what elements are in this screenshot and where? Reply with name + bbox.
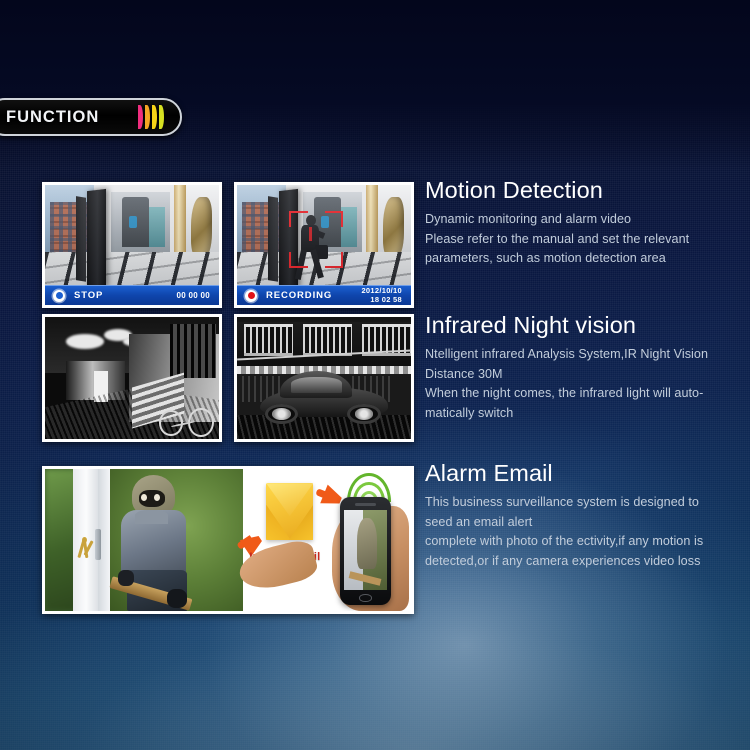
bicycle-shape bbox=[158, 395, 214, 436]
status-label: STOP bbox=[74, 290, 103, 301]
section-title: Alarm Email bbox=[425, 461, 743, 486]
section-line: When the night comes, the infrared light… bbox=[425, 384, 743, 404]
status-bar-idle: STOP 00 00 00 bbox=[45, 285, 219, 305]
night-street-scene bbox=[45, 317, 219, 439]
intruder-figure bbox=[116, 475, 203, 611]
envelope-icon bbox=[266, 483, 313, 540]
night-vision-street-frame[interactable] bbox=[42, 314, 222, 442]
section-infrared-night-vision: Infrared Night vision Ntelligent infrare… bbox=[425, 313, 743, 424]
section-line: complete with photo of the ectivity,if a… bbox=[425, 532, 743, 552]
section-line: This business surveillance system is des… bbox=[425, 493, 743, 513]
section-line: seed an email alert bbox=[425, 513, 743, 533]
function-banner-label: FUNCTION bbox=[6, 108, 99, 127]
night-car-scene bbox=[237, 317, 411, 439]
alert-flow: Instant Email bbox=[243, 469, 411, 611]
record-time: 18 02 58 bbox=[370, 295, 402, 304]
smartphone-shape bbox=[340, 497, 391, 605]
intruder-photo bbox=[45, 469, 243, 611]
section-line: Please refer to the manual and set the r… bbox=[425, 230, 743, 250]
night-vision-car-frame[interactable] bbox=[234, 314, 414, 442]
alarm-email-diagram[interactable]: Instant Email bbox=[42, 466, 414, 614]
motion-detection-recording-frame[interactable]: RECORDING 2012/10/10 18 02 58 bbox=[234, 182, 414, 308]
record-date: 2012/10/10 bbox=[361, 286, 402, 295]
section-title: Infrared Night vision bbox=[425, 313, 743, 338]
keys-icon bbox=[79, 537, 93, 568]
section-line: matically switch bbox=[425, 404, 743, 424]
motion-detection-idle-frame[interactable]: STOP 00 00 00 bbox=[42, 182, 222, 308]
banner-bar-1 bbox=[138, 105, 143, 129]
section-line: detected,or if any camera experiences vi… bbox=[425, 552, 743, 572]
status-label: RECORDING bbox=[266, 290, 332, 301]
section-title: Motion Detection bbox=[425, 178, 743, 203]
banner-bar-2 bbox=[145, 105, 150, 129]
section-line: parameters, such as motion detection are… bbox=[425, 249, 743, 269]
timestamp: 2012/10/10 18 02 58 bbox=[361, 287, 402, 305]
function-banner-bars bbox=[138, 105, 164, 129]
stop-circle-icon bbox=[53, 290, 65, 302]
section-line: Dynamic monitoring and alarm video bbox=[425, 210, 743, 230]
timestamp: 00 00 00 bbox=[176, 291, 210, 300]
banner-bar-4 bbox=[159, 105, 164, 129]
record-circle-icon bbox=[245, 290, 257, 302]
background-top-shade bbox=[0, 0, 750, 170]
car-shape bbox=[260, 373, 389, 424]
section-line: Ntelligent infrared Analysis System,IR N… bbox=[425, 345, 743, 365]
section-motion-detection: Motion Detection Dynamic monitoring and … bbox=[425, 178, 743, 269]
section-line: Distance 30M bbox=[425, 365, 743, 385]
section-alarm-email: Alarm Email This business surveillance s… bbox=[425, 461, 743, 572]
banner-bar-3 bbox=[152, 105, 157, 129]
status-bar-recording: RECORDING 2012/10/10 18 02 58 bbox=[237, 285, 411, 305]
function-banner: FUNCTION bbox=[0, 98, 182, 136]
